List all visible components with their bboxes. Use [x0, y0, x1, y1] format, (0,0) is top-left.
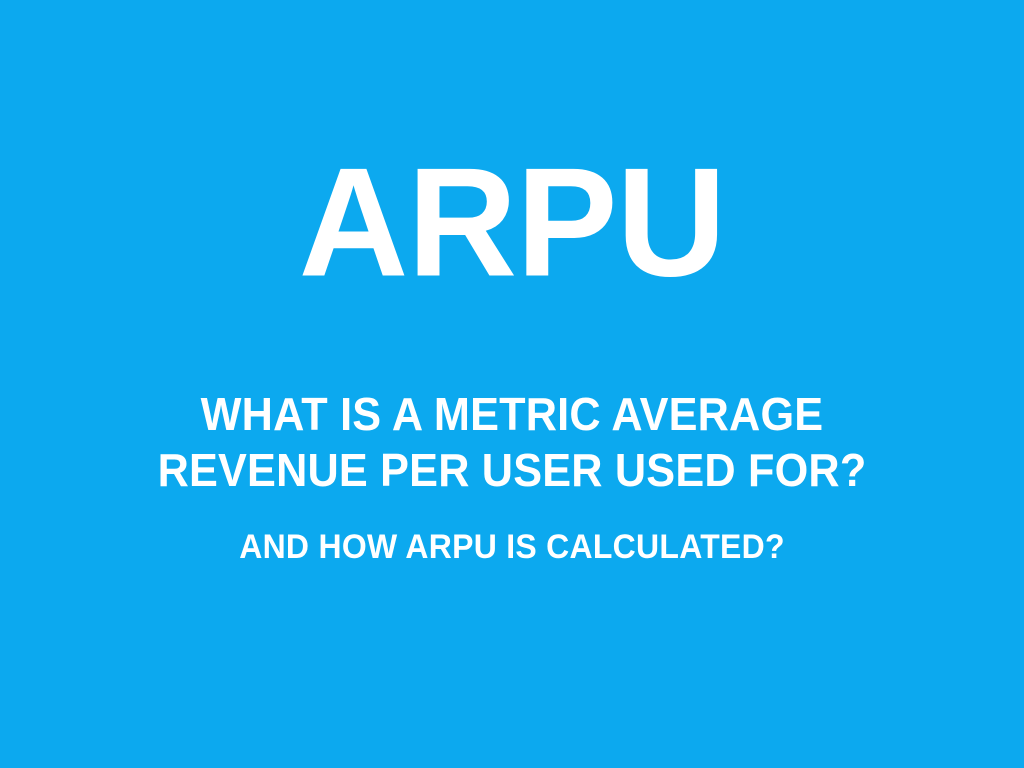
page-title: ARPU: [0, 145, 1024, 300]
slide-canvas: ARPU WHAT IS A METRIC AVERAGE REVENUE PE…: [0, 0, 1024, 768]
title-container: ARPU: [0, 0, 1024, 300]
slide-tertiary-line: AND HOW ARPU IS CALCULATED?: [31, 527, 994, 567]
slide-subtitle: WHAT IS A METRIC AVERAGE REVENUE PER USE…: [108, 386, 916, 498]
subtitle-container: WHAT IS A METRIC AVERAGE REVENUE PER USE…: [0, 386, 1024, 498]
tertiary-container: AND HOW ARPU IS CALCULATED?: [0, 527, 1024, 567]
